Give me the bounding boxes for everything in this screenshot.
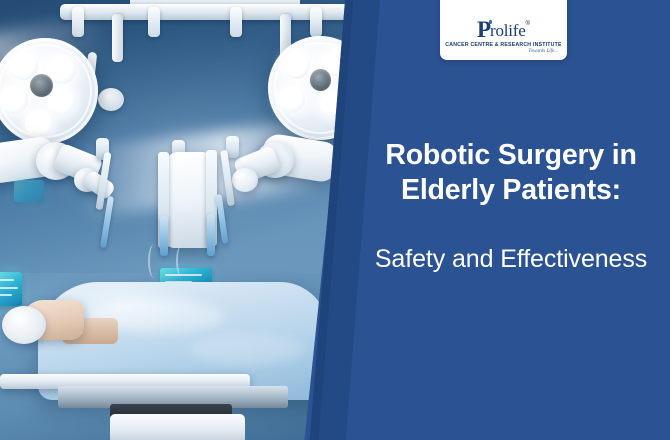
instrument-cable xyxy=(176,246,186,276)
lamp-support-arm xyxy=(112,14,123,62)
brand-logo-name: rolife xyxy=(490,19,526,43)
page-title: Robotic Surgery in Elderly Patients: xyxy=(356,138,666,209)
vitals-monitor-background xyxy=(14,180,44,202)
headline-line-2: Elderly Patients: xyxy=(356,173,666,208)
brand-logo-wordmark: P rolife ® xyxy=(477,19,530,41)
vitals-monitor-left xyxy=(0,272,22,306)
cart-instrument-right xyxy=(207,214,215,256)
brand-logo-accent-dot xyxy=(489,20,493,24)
lamp-bulb xyxy=(47,55,76,84)
patient-surgical-cap xyxy=(2,306,46,344)
cart-instrument-left xyxy=(160,216,168,256)
robotic-instrument-head-right xyxy=(226,136,239,158)
rail-segment xyxy=(72,7,84,37)
robotic-arm-right-elbow xyxy=(232,168,258,192)
rail-segment xyxy=(310,7,322,37)
lamp-bulb xyxy=(9,52,38,81)
lamp-bulb xyxy=(0,86,28,115)
lamp-center-hub xyxy=(310,69,332,91)
lamp-bulb xyxy=(47,87,76,116)
operating-table-column xyxy=(110,414,245,440)
instrument-cable xyxy=(148,244,160,278)
lamp-center-hub xyxy=(30,74,53,97)
lamp-bulb xyxy=(283,52,310,79)
ceiling-rail xyxy=(60,4,350,20)
page-subtitle: Safety and Effectiveness xyxy=(356,244,666,275)
promo-banner: P rolife ® CANCER CENTRE & RESEARCH INST… xyxy=(0,0,670,440)
brand-logo-subtitle: CANCER CENTRE & RESEARCH INSTITUTE xyxy=(445,42,561,48)
headline-line-1: Robotic Surgery in xyxy=(356,138,666,173)
drape-fold xyxy=(189,334,305,365)
brand-logo-initial: P xyxy=(477,19,490,41)
brand-logo-card: P rolife ® CANCER CENTRE & RESEARCH INST… xyxy=(440,0,567,60)
rail-segment xyxy=(148,7,160,37)
lamp-bulb xyxy=(278,86,305,113)
lamp-bulb xyxy=(25,109,54,138)
registered-trademark-icon: ® xyxy=(526,19,530,29)
brand-logo-tagline: Towards Life... xyxy=(528,49,558,54)
operating-theatre-photo xyxy=(0,0,350,440)
lamp-joint-left xyxy=(98,88,124,111)
rail-segment xyxy=(230,7,242,37)
